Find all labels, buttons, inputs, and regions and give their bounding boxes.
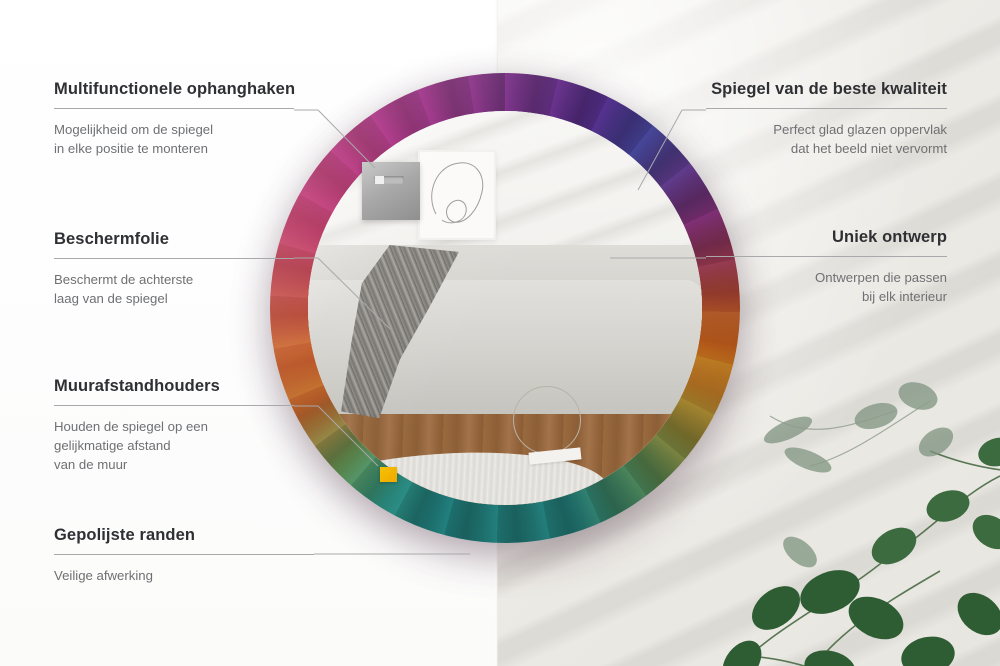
callout-rule	[54, 554, 314, 555]
callout-hanging-hooks: Multifunctionele ophanghaken Mogelijkhei…	[54, 80, 294, 158]
callout-description: Mogelijkheid om de spiegel in elke posit…	[54, 120, 294, 158]
callout-title: Gepolijste randen	[54, 526, 314, 545]
callout-description: Ontwerpen die passen bij elk interieur	[706, 268, 947, 306]
callout-title: Muurafstandhouders	[54, 377, 294, 396]
hanging-bracket-icon	[362, 162, 420, 220]
callout-best-quality-mirror: Spiegel van de beste kwaliteit Perfect g…	[706, 80, 947, 158]
infographic-canvas: Multifunctionele ophanghaken Mogelijkhei…	[0, 0, 1000, 666]
callout-description: Veilige afwerking	[54, 566, 314, 585]
callout-description: Houden de spiegel op een gelijkmatige af…	[54, 417, 294, 474]
callout-rule	[54, 108, 294, 109]
callout-wall-spacers: Muurafstandhouders Houden de spiegel op …	[54, 377, 294, 474]
wall-spacer-icon	[380, 467, 397, 482]
bracket-slot	[374, 176, 404, 184]
callout-title: Beschermfolie	[54, 230, 294, 249]
product-image	[270, 60, 740, 600]
callout-protective-foil: Beschermfolie Beschermt de achterste laa…	[54, 230, 294, 308]
round-mirror	[270, 73, 740, 543]
callout-rule	[706, 108, 947, 109]
callout-rule	[54, 405, 294, 406]
callout-title: Spiegel van de beste kwaliteit	[706, 80, 947, 99]
callout-unique-design: Uniek ontwerp Ontwerpen die passen bij e…	[706, 228, 947, 306]
callout-rule	[54, 258, 294, 259]
callout-title: Uniek ontwerp	[706, 228, 947, 247]
callout-description: Perfect glad glazen oppervlak dat het be…	[706, 120, 947, 158]
callout-description: Beschermt de achterste laag van de spieg…	[54, 270, 294, 308]
callout-title: Multifunctionele ophanghaken	[54, 80, 294, 99]
callout-polished-edges: Gepolijste randen Veilige afwerking	[54, 526, 314, 585]
callout-rule	[706, 256, 947, 257]
